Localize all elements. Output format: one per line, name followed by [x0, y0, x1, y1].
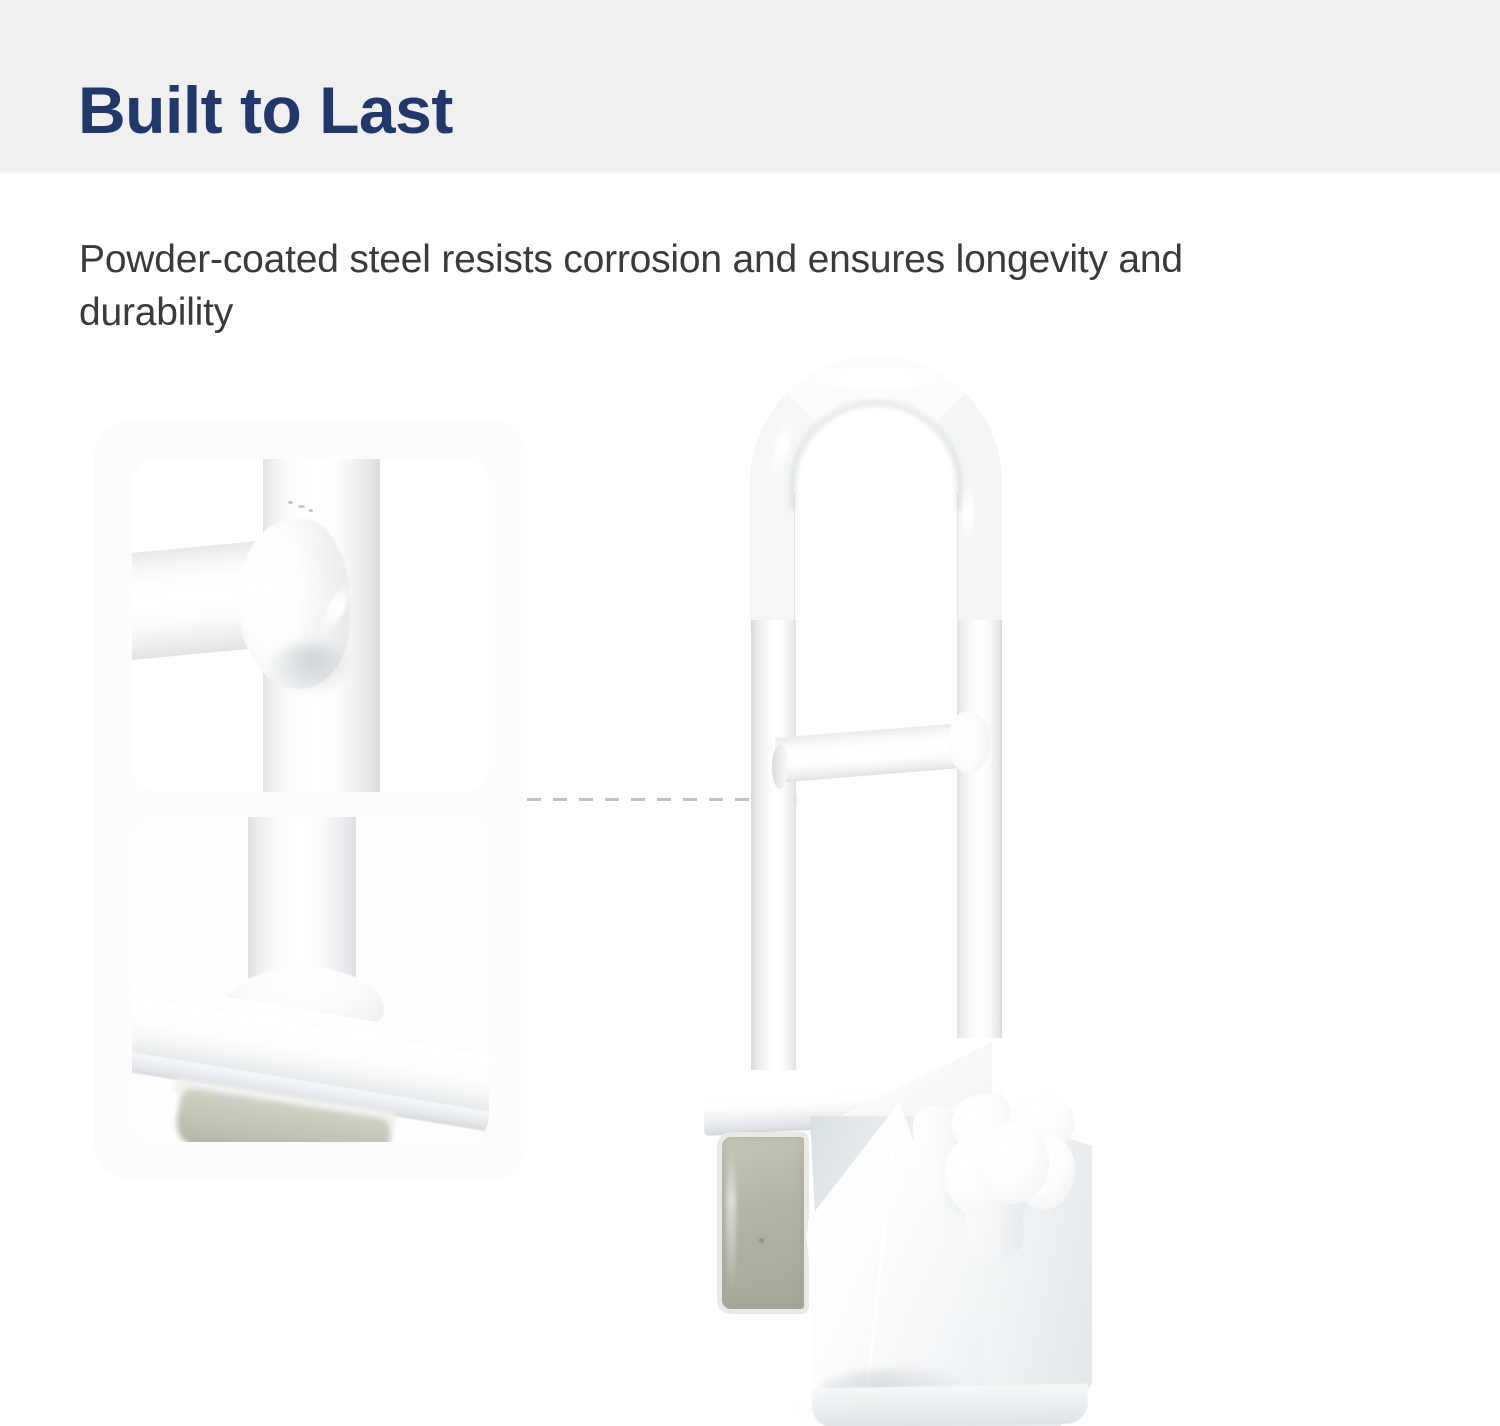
page-title: Built to Last — [78, 73, 453, 147]
surface-speck — [298, 505, 305, 508]
weld-joint-photo — [132, 459, 489, 792]
joint-shadow-detail — [268, 644, 354, 696]
callout-panel-base-plate — [132, 817, 489, 1142]
vertical-post-left — [751, 620, 796, 1070]
product-image-bathtub-grab-bar — [690, 340, 1120, 1426]
detail-callout-frame — [95, 421, 526, 1179]
tightening-knob — [945, 1092, 1075, 1272]
knob-hub — [975, 1122, 1049, 1204]
feature-subtitle: Powder-coated steel resists corrosion an… — [79, 233, 1239, 339]
clamp-bracket-lip — [812, 1384, 1089, 1426]
handle-arch-gloss-right — [962, 480, 974, 546]
base-plate-photo — [132, 817, 489, 1142]
product-feature-page: Built to Last Powder-coated steel resist… — [0, 0, 1500, 1426]
surface-speck — [288, 501, 293, 504]
cross-bar-joint-right — [948, 711, 990, 773]
rubber-pad-gloss — [726, 1146, 736, 1296]
handle-arch-crown-highlight — [794, 368, 960, 388]
callout-panel-weld-joint — [132, 459, 489, 792]
rubber-pad-dimple — [759, 1238, 764, 1243]
surface-speck — [309, 509, 313, 512]
vertical-post-right — [957, 620, 1002, 1038]
